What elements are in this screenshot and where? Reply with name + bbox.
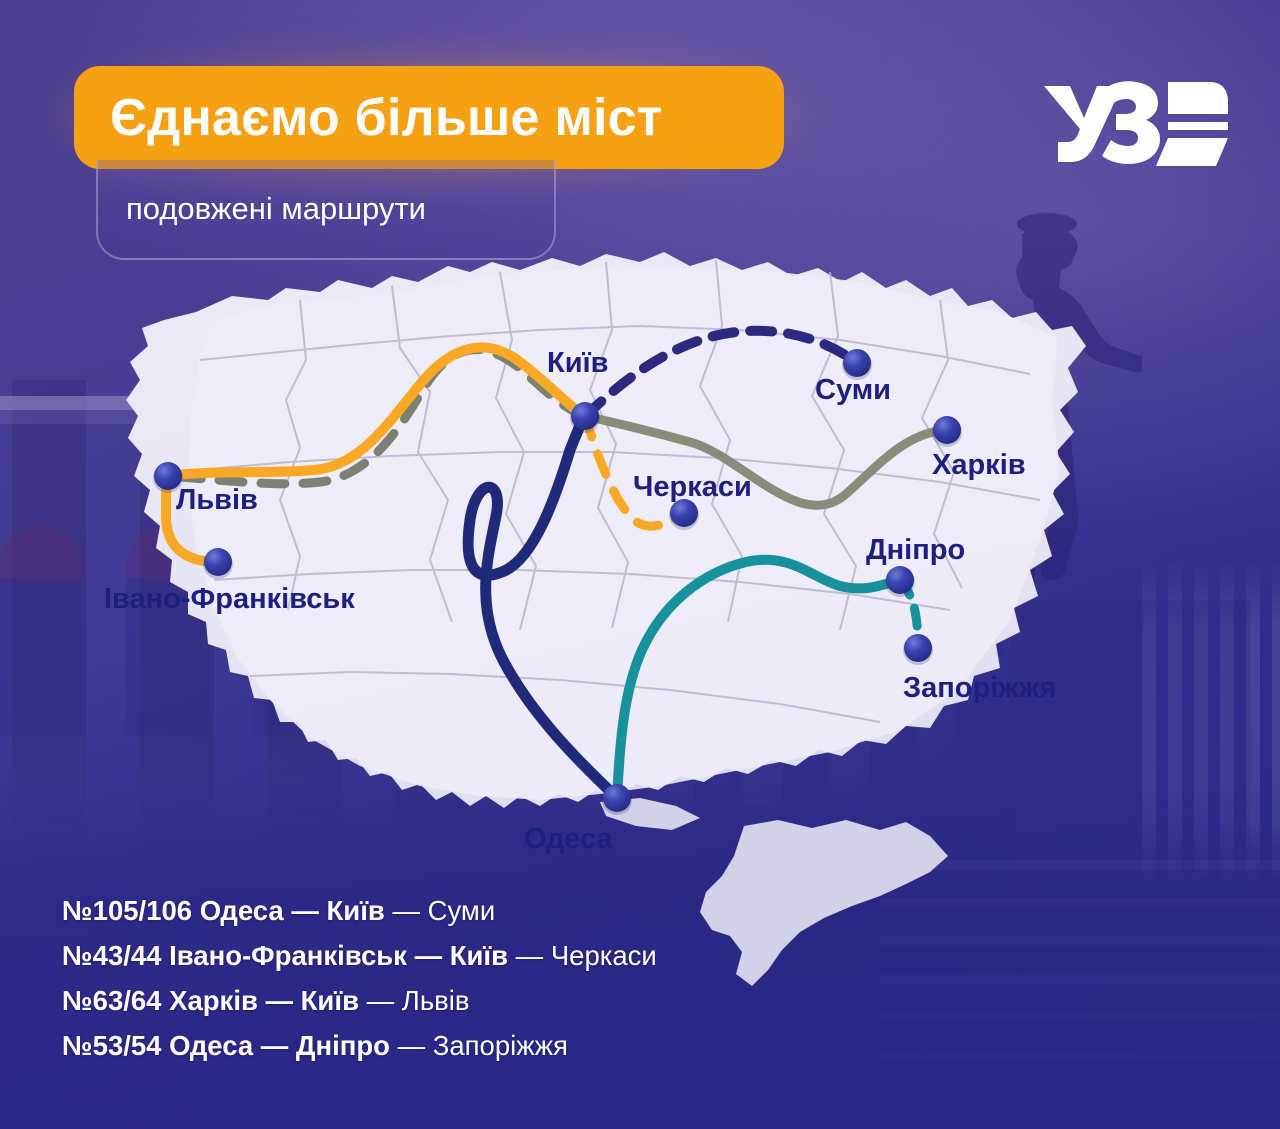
legend-separator: — [508,940,551,971]
city-dot-sumy[interactable] [843,349,871,377]
city-dot-zapor[interactable] [904,634,932,662]
city-label-kyiv: Київ [547,347,609,379]
legend-extension-city: Черкаси [551,940,657,971]
legend-separator: — [390,1030,433,1061]
legend-row-1: №105/106 Одеса — Київ — Суми [62,888,962,933]
city-dot-cherkasy[interactable] [670,499,698,527]
subtitle-banner: подовжені маршрути [96,160,556,260]
title-banner: Єднаємо більше міст [74,66,784,169]
legend-existing-route: Одеса — Київ [200,895,385,926]
city-label-sumy: Суми [815,374,891,406]
legend-extension-city: Суми [428,895,496,926]
city-label-ivano: Івано-Франківськ [104,583,355,615]
city-label-odesa: Одеса [524,823,613,855]
legend-extension-city: Запоріжжя [433,1030,568,1061]
city-dot-odesa[interactable] [603,784,631,812]
legend-train-number: №63/64 [62,985,169,1016]
ukraine-landmass [126,252,1086,808]
uz-logo [1040,78,1230,170]
city-dot-kharkiv[interactable] [933,416,961,444]
city-label-kharkiv: Харків [932,449,1026,481]
legend-row-3: №63/64 Харків — Київ — Львів [62,978,962,1023]
legend-row-4: №53/54 Одеса — Дніпро — Запоріжжя [62,1023,962,1068]
legend-train-number: №53/54 [62,1030,169,1061]
legend-existing-route: Одеса — Дніпро [169,1030,390,1061]
city-dot-ivano[interactable] [204,548,232,576]
legend-extension-city: Львів [402,985,470,1016]
infographic-poster: ЛьвівІвано-ФранківськКиївЧеркасиСумиХарк… [0,0,1280,1129]
legend-separator: — [385,895,428,926]
legend-list: №105/106 Одеса — Київ — Суми№43/44 Івано… [62,888,962,1068]
legend-separator: — [359,985,402,1016]
legend-existing-route: Івано-Франківськ — Київ [169,940,508,971]
city-label-zapor: Запоріжжя [903,672,1056,704]
legend-row-2: №43/44 Івано-Франківськ — Київ — Черкаси [62,933,962,978]
legend-existing-route: Харків — Київ [169,985,359,1016]
page-subtitle: подовжені маршрути [126,191,426,227]
city-label-lviv: Львів [176,484,258,516]
page-title: Єднаємо більше міст [110,88,662,148]
city-dot-kyiv[interactable] [571,402,599,430]
legend-train-number: №43/44 [62,940,169,971]
city-label-cherkasy: Черкаси [633,471,752,503]
city-label-dnipro: Дніпро [866,534,965,566]
legend-train-number: №105/106 [62,895,200,926]
city-dot-dnipro[interactable] [886,566,914,594]
